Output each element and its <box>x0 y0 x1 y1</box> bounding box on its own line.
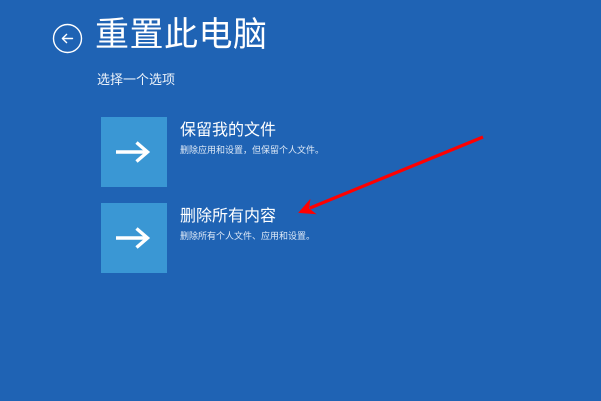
option-keep-my-files[interactable]: 保留我的文件 删除应用和设置，但保留个人文件。 <box>101 117 541 187</box>
right-arrow-icon <box>114 139 154 165</box>
option-description: 删除应用和设置，但保留个人文件。 <box>180 144 541 157</box>
reset-this-pc-screen: 重置此电脑 选择一个选项 保留我的文件 删除应用和设置，但保留个人文件。 <box>0 0 601 401</box>
page-subtitle: 选择一个选项 <box>97 71 175 89</box>
circled-left-arrow-icon <box>52 23 83 54</box>
option-text: 删除所有内容 删除所有个人文件、应用和设置。 <box>167 203 541 243</box>
option-title: 删除所有内容 <box>180 206 541 227</box>
option-tile <box>101 203 167 273</box>
options-list: 保留我的文件 删除应用和设置，但保留个人文件。 删除所有内容 删除所有个人文件、… <box>101 117 541 289</box>
option-text: 保留我的文件 删除应用和设置，但保留个人文件。 <box>167 117 541 157</box>
option-title: 保留我的文件 <box>180 120 541 141</box>
option-description: 删除所有个人文件、应用和设置。 <box>180 230 541 243</box>
page-title: 重置此电脑 <box>95 13 268 57</box>
option-remove-everything[interactable]: 删除所有内容 删除所有个人文件、应用和设置。 <box>101 203 541 273</box>
back-button[interactable] <box>52 23 83 54</box>
option-tile <box>101 117 167 187</box>
header: 重置此电脑 选择一个选项 <box>0 0 601 70</box>
right-arrow-icon <box>114 225 154 251</box>
